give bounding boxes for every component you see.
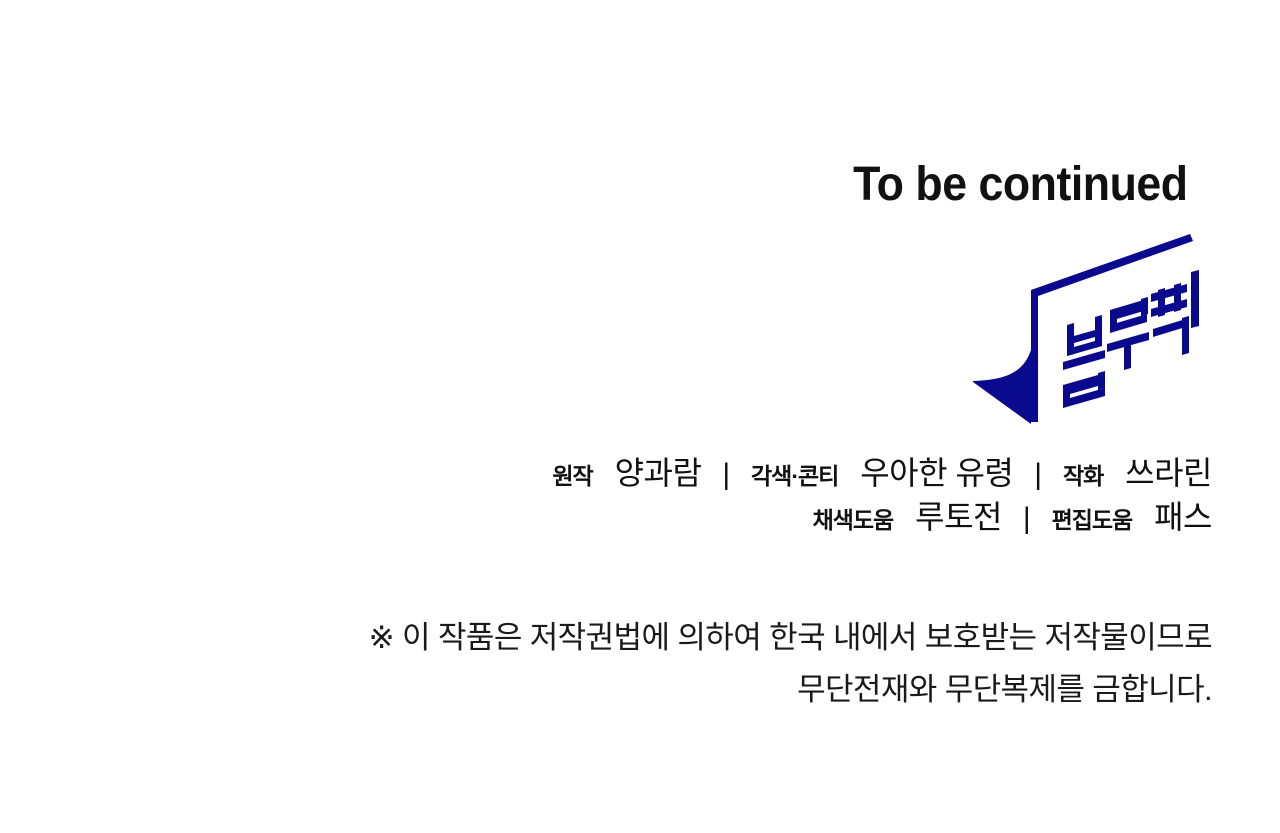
credit-separator-2: | <box>1031 458 1045 491</box>
logo-wordmark-beul <box>1063 315 1105 408</box>
copyright-notice: ※ 이 작품은 저작권법에 의하여 한국 내에서 보호받는 저작물이므로 무단전… <box>212 612 1212 716</box>
credit-separator-3: | <box>1020 502 1034 535</box>
credit-role-name-color-assist: 루토전 <box>915 499 1002 535</box>
credit-role-label-edit-assist: 편집도움 <box>1052 507 1133 533</box>
credits-line-1: 원작 양과람 | 각색·콘티 우아한 유령 | 작화 쓰라린 <box>412 452 1212 496</box>
credit-role-label-color-assist: 채색도움 <box>813 507 894 533</box>
webtoon-end-card-page: To be continued <box>0 0 1280 833</box>
credit-role-name-art: 쓰라린 <box>1125 455 1212 491</box>
credit-role-name-adaptation: 우아한 유령 <box>860 455 1013 491</box>
credit-role-label-adaptation: 각색·콘티 <box>751 463 838 489</box>
credits-line-2: 채색도움 루토전 | 편집도움 패스 <box>412 496 1212 540</box>
bluepic-logo-icon <box>955 222 1205 427</box>
logo-wordmark-ru <box>1107 297 1149 370</box>
copyright-line-1: ※ 이 작품은 저작권법에 의하여 한국 내에서 보호받는 저작물이므로 <box>212 612 1212 664</box>
copyright-line-2: 무단전재와 무단복제를 금합니다. <box>212 664 1212 716</box>
bluepic-logo <box>955 222 1205 427</box>
logo-pennant-shape <box>973 350 1031 424</box>
credit-role-label-art: 작화 <box>1063 463 1103 489</box>
credit-role-label-original: 원작 <box>552 463 592 489</box>
credit-role-name-edit-assist: 패스 <box>1154 499 1212 535</box>
credit-role-name-original: 양과람 <box>615 455 702 491</box>
credit-separator-1: | <box>719 458 733 491</box>
credits-block: 원작 양과람 | 각색·콘티 우아한 유령 | 작화 쓰라린 채색도움 루토전 … <box>412 452 1212 540</box>
logo-wordmark-pik <box>1151 270 1199 355</box>
to-be-continued-text: To be continued <box>854 161 1188 209</box>
